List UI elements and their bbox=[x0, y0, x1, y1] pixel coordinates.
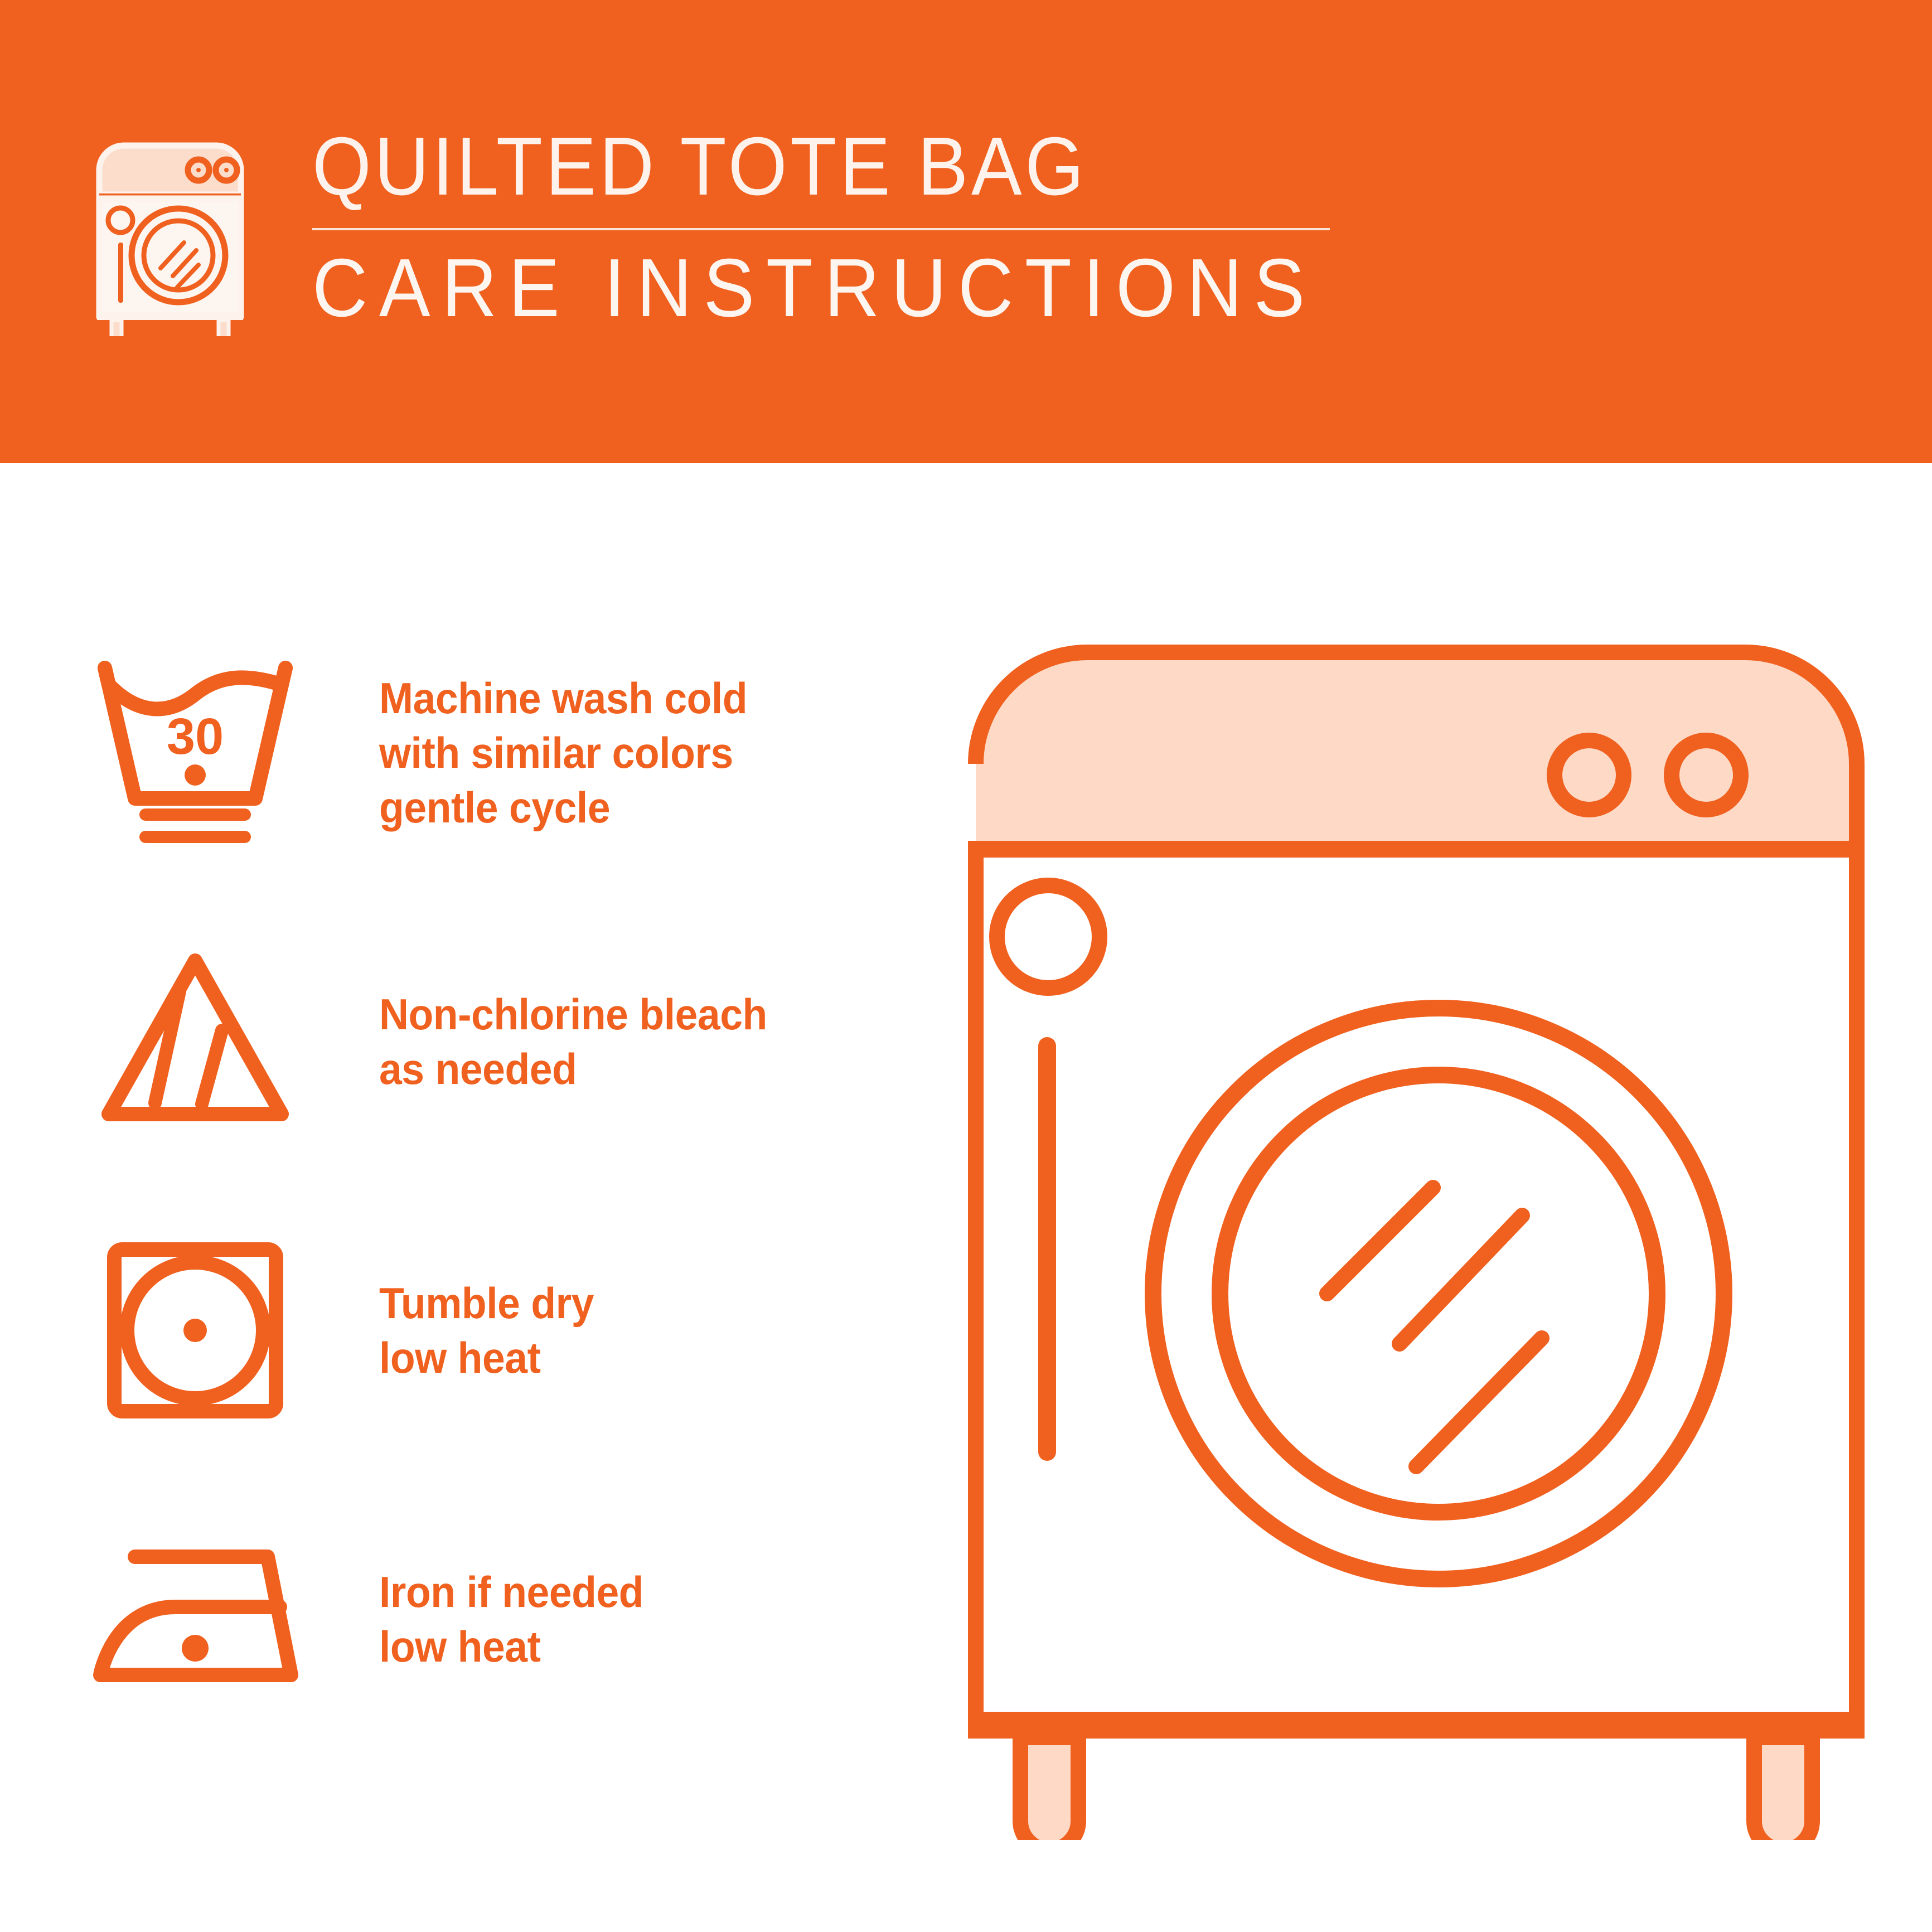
header-content: QUILTED TOTE BAG CARE INSTRUCTIONS bbox=[89, 125, 1316, 360]
page-title: QUILTED TOTE BAG bbox=[312, 125, 1305, 208]
care-instruction-list: 30 Machine wash cold with similar colors… bbox=[84, 641, 920, 1731]
tumble-dry-low-heat-icon bbox=[84, 1219, 307, 1442]
washing-machine-icon bbox=[89, 135, 251, 336]
machine-wash-30-gentle-icon: 30 bbox=[84, 641, 307, 864]
care-label-tumble-dry: Tumble dry low heat bbox=[379, 1276, 594, 1386]
non-chlorine-bleach-triangle-icon bbox=[84, 930, 307, 1153]
header-banner: QUILTED TOTE BAG CARE INSTRUCTIONS bbox=[0, 0, 1932, 463]
care-label-iron: Iron if needed low heat bbox=[379, 1565, 643, 1674]
header-titles: QUILTED TOTE BAG CARE INSTRUCTIONS bbox=[312, 125, 1392, 330]
care-row-iron: Iron if needed low heat bbox=[84, 1508, 920, 1731]
front-load-washing-machine-illustration bbox=[959, 624, 1873, 1840]
care-row-tumble-dry: Tumble dry low heat bbox=[84, 1219, 920, 1442]
main-content: 30 Machine wash cold with similar colors… bbox=[0, 463, 1932, 1932]
page-subtitle: CARE INSTRUCTIONS bbox=[312, 247, 1316, 330]
care-row-machine-wash: 30 Machine wash cold with similar colors… bbox=[84, 641, 920, 864]
title-divider bbox=[312, 228, 1330, 230]
care-row-bleach: Non-chlorine bleach as needed bbox=[84, 930, 920, 1153]
care-label-machine-wash: Machine wash cold with similar colors ge… bbox=[379, 671, 747, 835]
wash-temperature-value: 30 bbox=[167, 708, 224, 765]
iron-low-heat-icon bbox=[84, 1508, 307, 1731]
care-label-bleach: Non-chlorine bleach as needed bbox=[379, 987, 767, 1097]
